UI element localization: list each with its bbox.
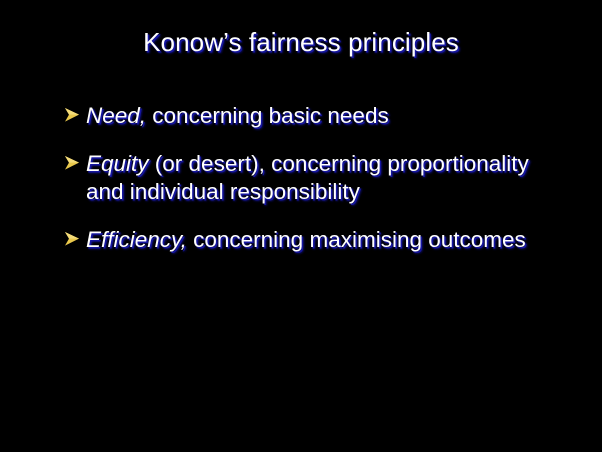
list-item: Equity (or desert), concerning proportio… xyxy=(62,150,562,206)
arrowhead-right-icon xyxy=(63,154,81,172)
list-item-text: Need, concerning basic needs xyxy=(86,103,389,128)
list-item-term: Equity xyxy=(86,151,149,176)
list-item-text: Equity (or desert), concerning proportio… xyxy=(86,151,529,204)
arrowhead-right-icon xyxy=(63,230,81,248)
list-item-term: Need, xyxy=(86,103,146,128)
bullet-list: Need, concerning basic needs Equity (or … xyxy=(62,102,562,254)
page-title: Konow’s fairness principles xyxy=(0,26,602,58)
list-item-term: Efficiency, xyxy=(86,227,187,252)
slide-canvas: Konow’s fairness principles Need, concer… xyxy=(0,0,602,452)
list-item-text: Efficiency, concerning maximising outcom… xyxy=(86,227,526,252)
list-item-rest: (or desert), concerning proportionality … xyxy=(86,151,529,204)
list-item-rest: concerning basic needs xyxy=(146,103,389,128)
list-item: Need, concerning basic needs xyxy=(62,102,562,130)
arrowhead-right-icon xyxy=(63,106,81,124)
list-item: Efficiency, concerning maximising outcom… xyxy=(62,226,562,254)
list-item-rest: concerning maximising outcomes xyxy=(187,227,526,252)
